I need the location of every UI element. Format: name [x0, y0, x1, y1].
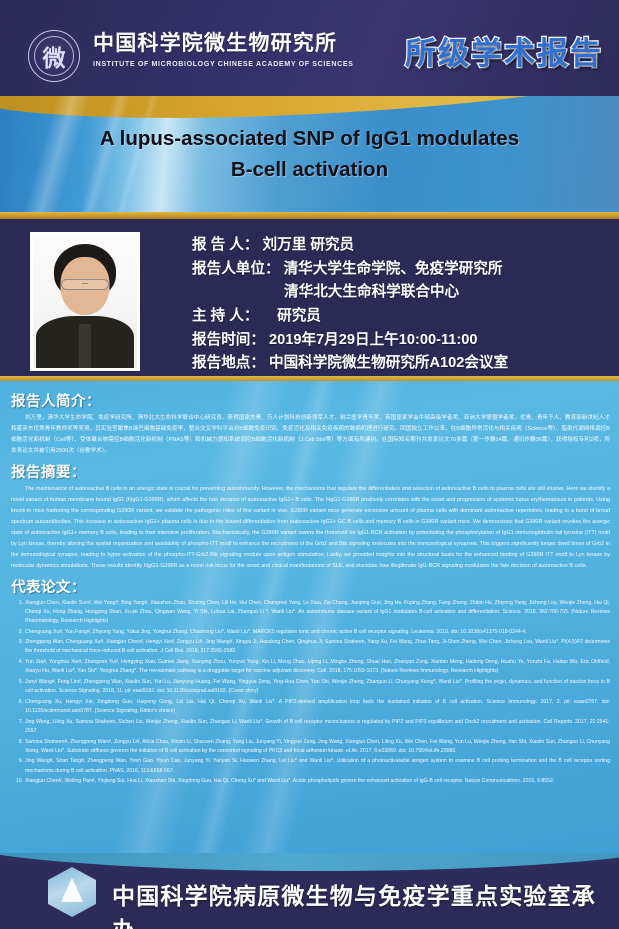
info-row-affiliation-2: 清华北大生命科学联合中心 — [192, 281, 508, 305]
page-title: A lupus-associated SNP of IgG1 modulates… — [0, 124, 619, 186]
list-item: 4. Yun Xia#, Yonghua Xie#, Zhengsen Yu#,… — [11, 658, 610, 676]
bio-heading: 报告人简介： — [11, 390, 610, 411]
list-item: 3. Zhengpeng Wan, Chenguang Xu#, Xiangju… — [11, 638, 610, 656]
gold-divider-top — [0, 212, 619, 219]
info-row-time: 报告时间： 2019年7月29日上午10:00-11:00 — [192, 329, 508, 353]
info-value: 清华北大生命科学联合中心 — [284, 281, 459, 305]
ref-text: Xiangjun Chen, Xiaolin Sun#, Wei Yang#, … — [25, 600, 610, 624]
ref-number: 9. — [11, 757, 23, 766]
ref-text: Zhengpeng Wan, Chenguang Xu#, Xiangjun C… — [25, 639, 610, 654]
hexagon-crystal-icon — [48, 867, 96, 917]
ref-number: 6. — [11, 698, 23, 707]
ref-text: Jing Wang#, Shan Tang#, Zhengpeng Wan, Y… — [25, 758, 610, 773]
publication-list: 1. Xiangjun Chen, Xiaolin Sun#, Wei Yang… — [11, 599, 610, 787]
info-row-venue: 报告地点： 中国科学院微生物研究所A102会议室 — [192, 352, 508, 376]
info-row-affiliation: 报告人单位： 清华大学生命学院、免疫学研究所 — [192, 258, 508, 282]
talk-title-line-1: A lupus-associated SNP of IgG1 modulates — [0, 124, 619, 155]
info-value: 刘万里 研究员 — [263, 234, 355, 258]
ref-number: 5. — [11, 678, 23, 687]
publications-heading: 代表论文： — [11, 576, 610, 597]
ref-text: Jing Wang, Liling Xu, Samina Shaheen, Si… — [25, 719, 610, 734]
info-row-host: 主 持 人： 研究员 — [192, 305, 508, 329]
portrait-zipper — [79, 324, 91, 368]
ref-text: Yun Xia#, Yonghua Xie#, Zhengsen Yu#, Ho… — [25, 659, 610, 674]
list-item: 8. Samina Shaheen#, Zhengpeng Wan#, Zong… — [11, 738, 610, 756]
info-label: 报告人单位： — [192, 258, 280, 282]
info-value: 中国科学院微生物研究所A102会议室 — [269, 352, 508, 376]
list-item: 1. Xiangjun Chen, Xiaolin Sun#, Wei Yang… — [11, 599, 610, 627]
institute-name-en: INSTITUTE OF MICROBIOLOGY CHINESE ACADEM… — [93, 60, 354, 68]
ref-text: Chenguang Xu, Hengyi Xie, Xingdong Guo, … — [25, 699, 610, 714]
banner-title: 所级学术报告 — [405, 28, 603, 73]
abstract-heading: 报告摘要： — [11, 461, 610, 482]
ref-number: 8. — [11, 738, 23, 747]
ref-number: 4. — [11, 658, 23, 667]
list-item: 10. Xiangjun Chen#, Weiling Pan#, Yinjia… — [11, 777, 610, 786]
ref-number: 7. — [11, 718, 23, 727]
poster-header: 微 中国科学院微生物研究所 INSTITUTE OF MICROBIOLOGY … — [0, 0, 619, 104]
speaker-info-lines: 报 告 人： 刘万里 研究员 报告人单位： 清华大学生命学院、免疫学研究所 清华… — [192, 234, 508, 376]
footer-organizer-text: 中国科学院病原微生物与免疫学重点实验室承办 — [112, 877, 619, 929]
info-label: 报 告 人： — [192, 234, 259, 258]
portrait-glasses — [61, 279, 109, 290]
info-label: 报告地点： — [192, 352, 265, 376]
ref-text: Junyi Wang#, Feng Lin#, Zhengpeng Wan, X… — [25, 679, 610, 694]
list-item: 5. Junyi Wang#, Feng Lin#, Zhengpeng Wan… — [11, 678, 610, 696]
poster-footer: 中国科学院病原微生物与免疫学重点实验室承办 — [0, 853, 619, 929]
list-item: 7. Jing Wang, Liling Xu, Samina Shaheen,… — [11, 718, 610, 736]
institute-name-cn: 中国科学院微生物研究所 — [93, 33, 354, 55]
info-row-speaker: 报 告 人： 刘万里 研究员 — [192, 234, 508, 258]
institute-name-block: 中国科学院微生物研究所 INSTITUTE OF MICROBIOLOGY CH… — [93, 33, 354, 68]
ref-number: 3. — [11, 638, 23, 647]
list-item: 2. Chenguang Xu#, Yan Fang#, Zhiyong Yan… — [11, 628, 610, 637]
seminar-poster: 微 中国科学院微生物研究所 INSTITUTE OF MICROBIOLOGY … — [0, 0, 619, 929]
info-value: 清华大学生命学院、免疫学研究所 — [284, 258, 503, 282]
bio-text: 刘万里，清华大学生命学院、免疫学研究所、清华北大生命科学联合中心研究员。获得国家… — [11, 413, 610, 457]
ref-number: 10. — [11, 777, 23, 786]
institute-seal-glyph: 微 — [29, 31, 79, 81]
talk-title-line-2: B-cell activation — [0, 155, 619, 186]
talk-title-band: A lupus-associated SNP of IgG1 modulates… — [0, 96, 619, 214]
ref-text: Xiangjun Chen#, Weiling Pan#, Yinjiang S… — [25, 778, 554, 784]
ref-number: 1. — [11, 599, 23, 608]
ref-number: 2. — [11, 628, 23, 637]
list-item: 9. Jing Wang#, Shan Tang#, Zhengpeng Wan… — [11, 757, 610, 775]
ref-text: Chenguang Xu#, Yan Fang#, Zhiyong Yang, … — [25, 629, 527, 635]
ref-text: Samina Shaheen#, Zhengpeng Wan#, Zongyu … — [25, 739, 610, 754]
info-value: 研究员 — [263, 305, 321, 329]
poster-body: 报告人简介： 刘万里，清华大学生命学院、免疫学研究所、清华北大生命科学联合中心研… — [0, 381, 619, 853]
avatar — [30, 232, 140, 371]
speaker-info-panel: 报 告 人： 刘万里 研究员 报告人单位： 清华大学生命学院、免疫学研究所 清华… — [0, 219, 619, 381]
info-label: 报告时间： — [192, 329, 265, 353]
abstract-text: The maintenance of autoreactive B cells … — [11, 484, 610, 572]
info-value: 2019年7月29日上午10:00-11:00 — [269, 329, 478, 353]
institute-seal-icon: 微 — [28, 30, 80, 82]
list-item: 6. Chenguang Xu, Hengyi Xie, Xingdong Gu… — [11, 698, 610, 716]
info-label: 主 持 人： — [192, 305, 259, 329]
